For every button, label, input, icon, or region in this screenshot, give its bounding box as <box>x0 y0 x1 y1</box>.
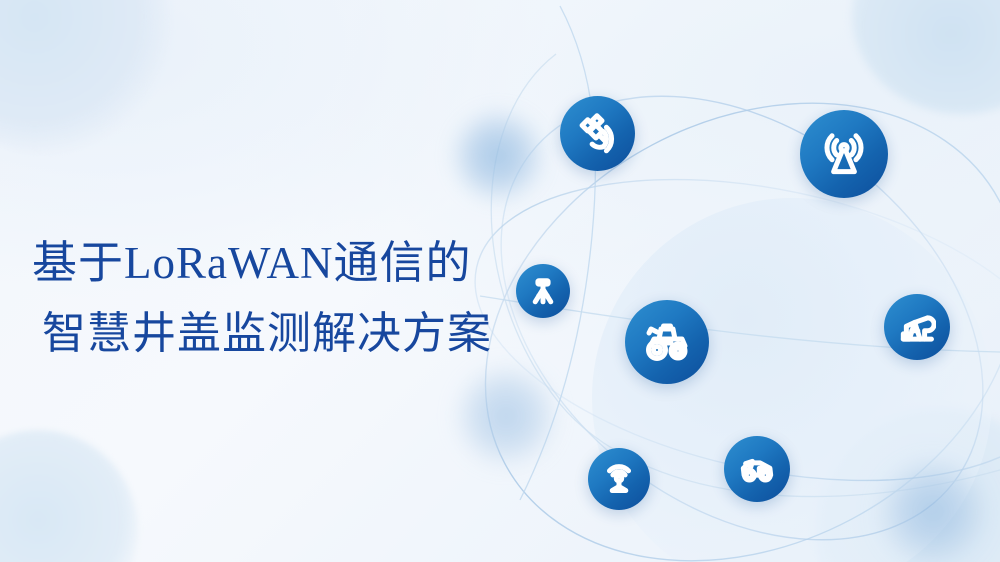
tractor-icon[interactable] <box>625 300 709 384</box>
blob-top-left <box>0 0 172 154</box>
presentation-slide: 基于LoRaWAN通信的 智慧井盖监测解决方案 <box>0 0 1000 562</box>
slide-title: 基于LoRaWAN通信的 智慧井盖监测解决方案 <box>32 228 562 369</box>
blob-mid-bottom <box>452 362 560 470</box>
signal-sensor-icon[interactable] <box>588 448 650 510</box>
blob-bottom-right-dot <box>878 462 988 562</box>
title-line-2: 智慧井盖监测解决方案 <box>32 299 562 369</box>
blob-bottom-right <box>816 408 1000 562</box>
radio-tower-icon[interactable] <box>800 110 888 198</box>
oil-pumpjack-icon[interactable] <box>884 294 950 360</box>
blob-bottom-left <box>0 430 138 562</box>
satellite-icon[interactable] <box>560 96 635 171</box>
title-line-1: 基于LoRaWAN通信的 <box>32 228 562 299</box>
blob-mid-top <box>448 106 548 206</box>
blob-top-right <box>852 0 1000 114</box>
utility-vehicle-icon[interactable] <box>724 436 790 502</box>
